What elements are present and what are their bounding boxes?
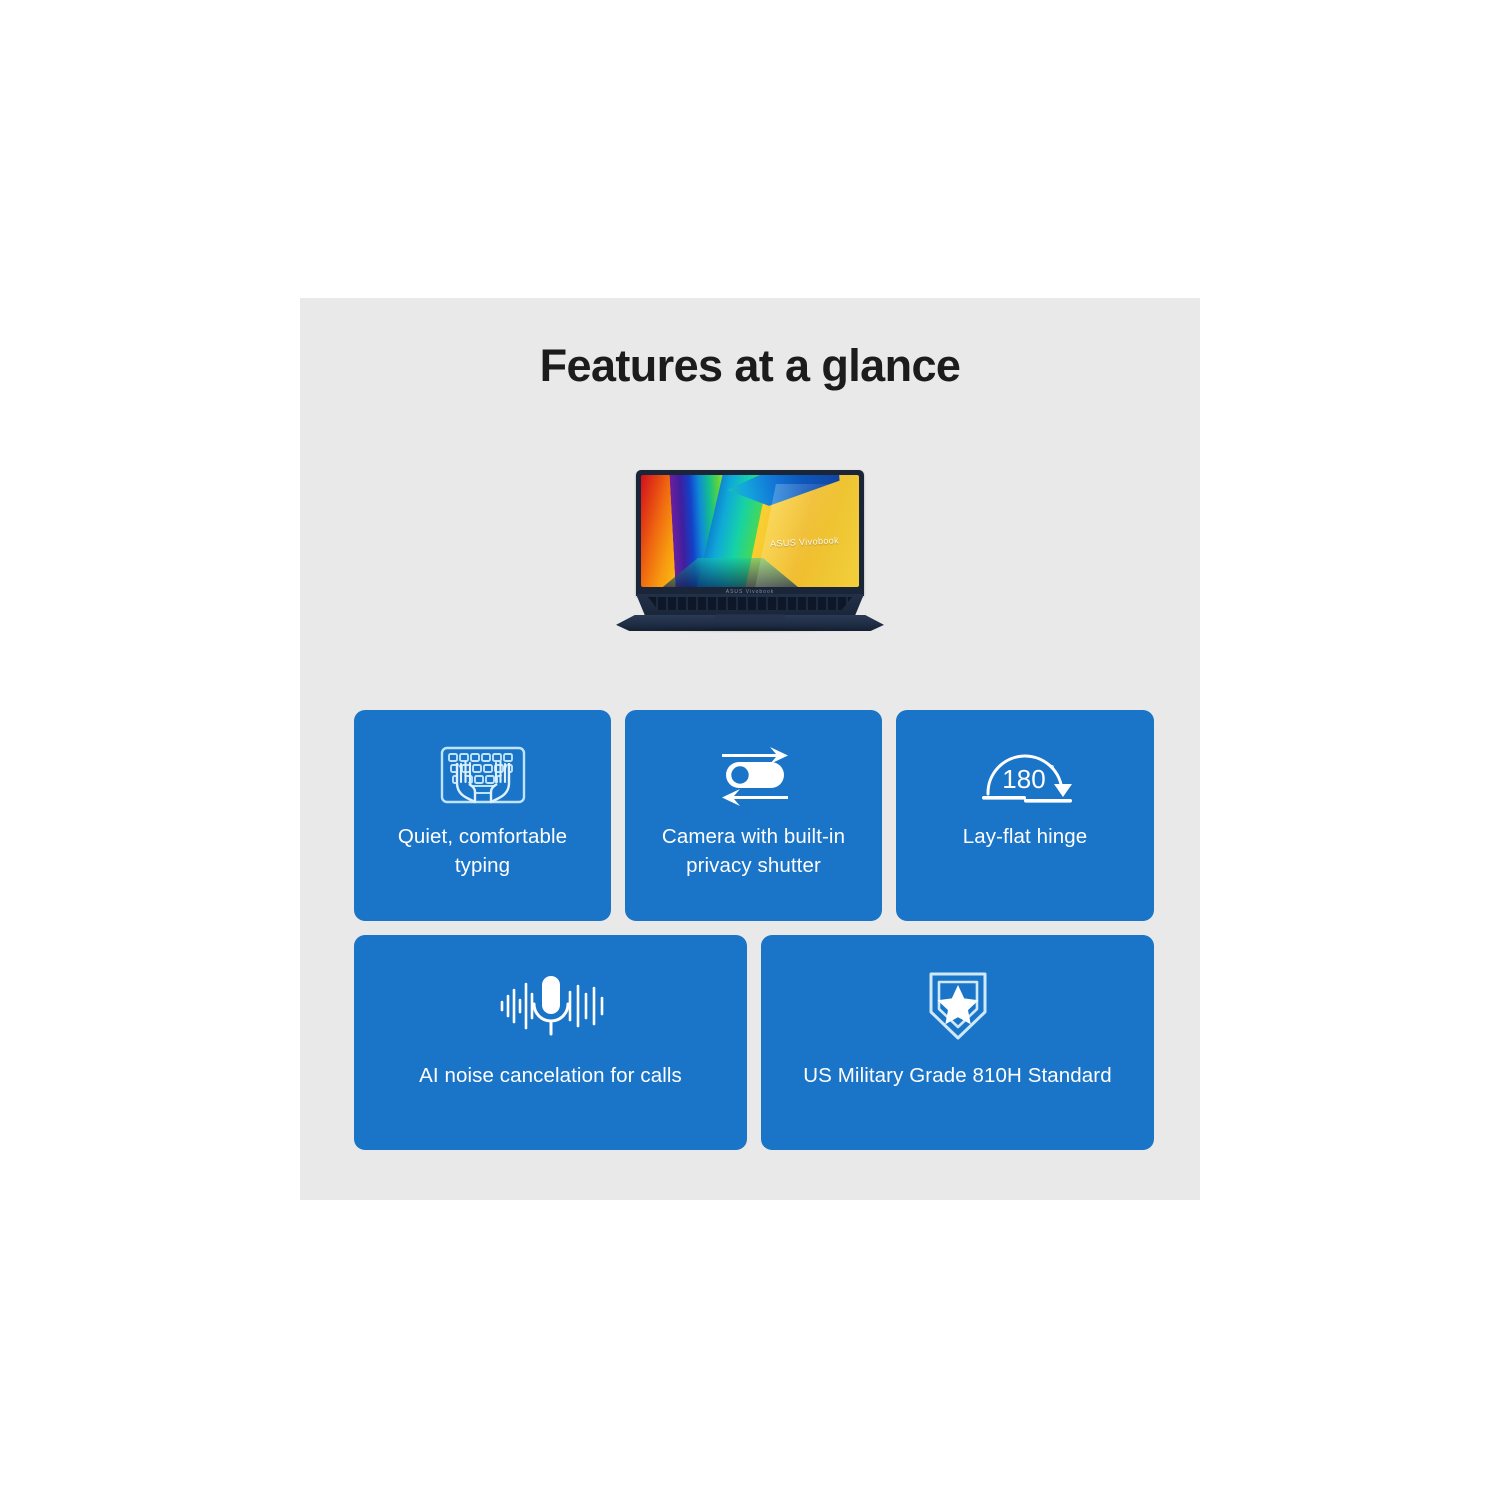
laptop-lid: ASUS Vivobook ASUS Vivobook bbox=[636, 470, 864, 596]
page-title: Features at a glance bbox=[300, 340, 1200, 392]
laptop-product-image: ASUS Vivobook ASUS Vivobook bbox=[600, 470, 900, 660]
laptop-touchpad bbox=[714, 614, 786, 621]
feature-card-label: AI noise cancelation for calls bbox=[419, 1061, 682, 1090]
feature-cards-row-2: AI noise cancelation for calls US Milita… bbox=[354, 935, 1154, 1150]
feature-card-label: Camera with built-in privacy shutter bbox=[639, 822, 869, 880]
features-panel: Features at a glance ASUS Vivobook ASUS … bbox=[300, 298, 1200, 1200]
camera-shutter-icon bbox=[704, 740, 804, 810]
feature-card-label: Lay-flat hinge bbox=[963, 822, 1087, 851]
feature-cards-row-1: Quiet, comfortable typing bbox=[354, 710, 1154, 921]
laptop-base bbox=[610, 594, 890, 630]
feature-card-quiet-typing[interactable]: Quiet, comfortable typing bbox=[354, 710, 611, 921]
feature-card-label: US Military Grade 810H Standard bbox=[803, 1061, 1111, 1090]
feature-card-lay-flat-hinge[interactable]: 180 ° Lay-flat hinge bbox=[896, 710, 1154, 921]
keyboard-hands-icon bbox=[433, 740, 533, 810]
feature-cards-grid: Quiet, comfortable typing bbox=[354, 710, 1154, 1164]
feature-card-ai-noise-cancelation[interactable]: AI noise cancelation for calls bbox=[354, 935, 747, 1150]
laptop-keys bbox=[648, 597, 852, 610]
feature-card-privacy-shutter[interactable]: Camera with built-in privacy shutter bbox=[625, 710, 882, 921]
laptop-screen: ASUS Vivobook bbox=[641, 475, 859, 587]
feature-card-military-grade[interactable]: US Military Grade 810H Standard bbox=[761, 935, 1154, 1150]
hinge-180-degree-icon: 180 ° bbox=[966, 740, 1084, 810]
hinge-angle-value: 180 bbox=[1002, 764, 1045, 794]
hinge-degree-symbol: ° bbox=[1049, 762, 1054, 777]
microphone-waveform-icon bbox=[492, 971, 610, 1041]
shield-star-icon bbox=[918, 971, 998, 1041]
laptop-drop-shadow bbox=[618, 626, 882, 633]
feature-card-label: Quiet, comfortable typing bbox=[368, 822, 598, 880]
screenshot-canvas: Features at a glance ASUS Vivobook ASUS … bbox=[0, 0, 1500, 1500]
